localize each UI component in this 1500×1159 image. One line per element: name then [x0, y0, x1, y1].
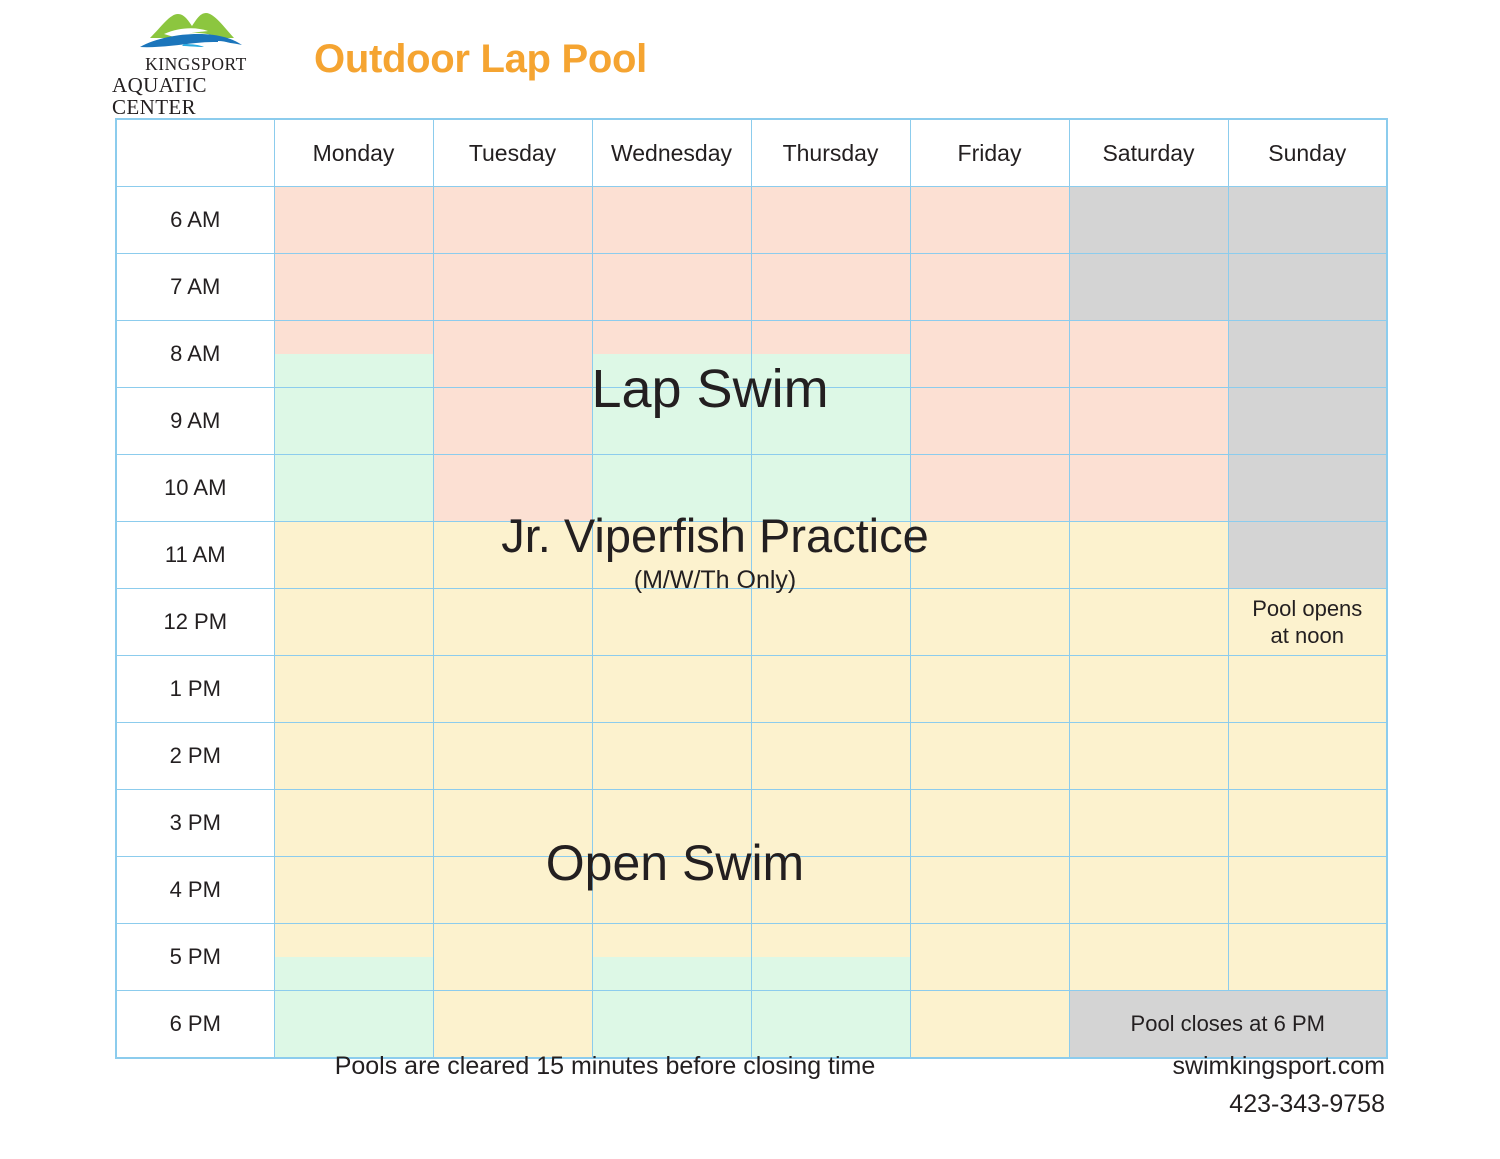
slot-monday-6-am	[274, 187, 433, 254]
slot-half-second	[593, 488, 751, 521]
slot-monday-4-pm	[274, 857, 433, 924]
slot-thursday-6-am	[751, 187, 910, 254]
slot-half-first	[911, 924, 1069, 957]
slot-color-fill	[1070, 790, 1228, 856]
time-label-10-am: 10 AM	[116, 455, 274, 522]
slot-wednesday-11-am	[592, 522, 751, 589]
slot-half-second	[752, 220, 910, 253]
slot-color-fill	[752, 857, 910, 923]
corner-cell	[116, 119, 274, 187]
slot-color-fill	[1070, 187, 1228, 253]
slot-half-second	[1070, 823, 1228, 856]
slot-half-first	[1070, 254, 1228, 287]
slot-color-fill	[1070, 455, 1228, 521]
slot-half-first	[752, 991, 910, 1024]
slot-half-first	[752, 187, 910, 220]
slot-half-second	[752, 689, 910, 722]
schedule-row: 2 PM	[116, 723, 1387, 790]
slot-half-second	[911, 421, 1069, 454]
slot-half-first	[434, 857, 592, 890]
slot-color-fill	[752, 187, 910, 253]
slot-wednesday-5-pm	[592, 924, 751, 991]
slot-tuesday-2-pm	[433, 723, 592, 790]
slot-color-fill	[593, 455, 751, 521]
slot-half-first	[275, 321, 433, 354]
slot-tuesday-11-am	[433, 522, 592, 589]
slot-thursday-2-pm	[751, 723, 910, 790]
slot-color-fill	[434, 522, 592, 588]
slot-color-fill	[752, 254, 910, 320]
slot-color-fill	[911, 790, 1069, 856]
schedule-row: 5 PM	[116, 924, 1387, 991]
slot-tuesday-12-pm	[433, 589, 592, 656]
slot-half-second	[752, 287, 910, 320]
time-label-3-pm: 3 PM	[116, 790, 274, 857]
slot-half-second	[911, 287, 1069, 320]
schedule-row: 6 AM	[116, 187, 1387, 254]
slot-half-first	[752, 321, 910, 354]
slot-monday-5-pm	[274, 924, 433, 991]
slot-half-second	[1070, 220, 1228, 253]
slot-monday-2-pm	[274, 723, 433, 790]
slot-half-first	[275, 388, 433, 421]
slot-half-second	[593, 689, 751, 722]
slot-half-first	[1229, 857, 1387, 890]
slot-half-second	[593, 287, 751, 320]
slot-half-second	[1229, 823, 1387, 856]
slot-half-second	[911, 823, 1069, 856]
slot-color-fill	[434, 857, 592, 923]
slot-thursday-1-pm	[751, 656, 910, 723]
slot-half-second	[593, 622, 751, 655]
slot-color-fill	[1070, 656, 1228, 722]
slot-half-second	[275, 421, 433, 454]
slot-wednesday-6-am	[592, 187, 751, 254]
slot-half-second	[1229, 957, 1387, 990]
slot-half-first	[434, 388, 592, 421]
slot-half-first	[1070, 455, 1228, 488]
slot-saturday-1-pm	[1069, 656, 1228, 723]
slot-friday-4-pm	[910, 857, 1069, 924]
slot-half-second	[752, 823, 910, 856]
slot-half-first	[275, 187, 433, 220]
slot-thursday-10-am	[751, 455, 910, 522]
time-label-11-am: 11 AM	[116, 522, 274, 589]
slot-half-second	[275, 287, 433, 320]
slot-half-first	[1229, 522, 1387, 555]
slot-half-first	[275, 857, 433, 890]
page-header: KINGSPORT AQUATIC CENTER Outdoor Lap Poo…	[0, 0, 1500, 118]
slot-half-first	[593, 656, 751, 689]
slot-color-fill	[752, 924, 910, 990]
slot-half-second	[593, 421, 751, 454]
slot-wednesday-10-am	[592, 455, 751, 522]
slot-half-first	[593, 388, 751, 421]
slot-color-fill	[275, 589, 433, 655]
slot-thursday-3-pm	[751, 790, 910, 857]
slot-saturday-12-pm	[1069, 589, 1228, 656]
slot-friday-12-pm	[910, 589, 1069, 656]
slot-sunday-5-pm	[1228, 924, 1387, 991]
slot-half-second	[593, 957, 751, 990]
slot-half-first	[434, 321, 592, 354]
slot-half-second	[911, 890, 1069, 923]
slot-half-first	[911, 656, 1069, 689]
schedule-table-body: 6 AM7 AM8 AM9 AM10 AM11 AM12 PMPool open…	[116, 187, 1387, 1059]
slot-half-second	[911, 622, 1069, 655]
slot-saturday-3-pm	[1069, 790, 1228, 857]
slot-color-fill	[1229, 723, 1387, 789]
slot-color-fill	[752, 589, 910, 655]
slot-saturday-7-am	[1069, 254, 1228, 321]
slot-color-fill	[275, 924, 433, 990]
slot-half-second	[275, 555, 433, 588]
slot-thursday-8-am	[751, 321, 910, 388]
slot-thursday-9-am	[751, 388, 910, 455]
time-label-4-pm: 4 PM	[116, 857, 274, 924]
schedule-row: 8 AM	[116, 321, 1387, 388]
slot-half-first	[275, 924, 433, 957]
slot-monday-3-pm	[274, 790, 433, 857]
slot-half-first	[1070, 857, 1228, 890]
slot-half-first	[593, 321, 751, 354]
slot-half-first	[593, 589, 751, 622]
slot-half-first	[275, 991, 433, 1024]
slot-half-first	[911, 254, 1069, 287]
slot-friday-1-pm	[910, 656, 1069, 723]
slot-half-first	[911, 790, 1069, 823]
slot-color-fill	[1070, 254, 1228, 320]
schedule-row: 3 PM	[116, 790, 1387, 857]
slot-color-fill	[752, 790, 910, 856]
slot-half-first	[1070, 187, 1228, 220]
slot-color-fill	[593, 857, 751, 923]
slot-half-first	[911, 522, 1069, 555]
slot-color-fill	[593, 522, 751, 588]
slot-tuesday-5-pm	[433, 924, 592, 991]
slot-half-second	[275, 488, 433, 521]
schedule-row: 12 PMPool opensat noon	[116, 589, 1387, 656]
slot-color-fill	[752, 321, 910, 387]
slot-half-first	[593, 522, 751, 555]
slot-monday-8-am	[274, 321, 433, 388]
slot-color-fill	[434, 924, 592, 990]
slot-wednesday-3-pm	[592, 790, 751, 857]
slot-tuesday-8-am	[433, 321, 592, 388]
slot-wednesday-7-am	[592, 254, 751, 321]
slot-color-fill	[434, 589, 592, 655]
slot-tuesday-9-am	[433, 388, 592, 455]
time-label-2-pm: 2 PM	[116, 723, 274, 790]
slot-thursday-4-pm	[751, 857, 910, 924]
slot-monday-7-am	[274, 254, 433, 321]
slot-saturday-9-am	[1069, 388, 1228, 455]
slot-half-first	[593, 991, 751, 1024]
slot-half-second	[752, 421, 910, 454]
slot-half-second	[434, 823, 592, 856]
slot-tuesday-6-am	[433, 187, 592, 254]
slot-half-first	[1229, 790, 1387, 823]
schedule-table: Monday Tuesday Wednesday Thursday Friday…	[115, 118, 1388, 1059]
slot-friday-5-pm	[910, 924, 1069, 991]
slot-half-second	[911, 488, 1069, 521]
slot-half-first	[752, 455, 910, 488]
header-row: Monday Tuesday Wednesday Thursday Friday…	[116, 119, 1387, 187]
slot-wednesday-1-pm	[592, 656, 751, 723]
slot-half-first	[434, 187, 592, 220]
slot-color-fill	[752, 455, 910, 521]
slot-half-second	[752, 555, 910, 588]
slot-half-second	[752, 756, 910, 789]
day-header-saturday: Saturday	[1069, 119, 1228, 187]
slot-half-second	[275, 890, 433, 923]
slot-half-first	[434, 455, 592, 488]
slot-half-first	[593, 857, 751, 890]
slot-half-second	[1070, 622, 1228, 655]
time-label-12-pm: 12 PM	[116, 589, 274, 656]
slot-half-first	[434, 589, 592, 622]
slot-half-second	[275, 823, 433, 856]
slot-color-fill	[593, 723, 751, 789]
slot-color-fill	[275, 790, 433, 856]
slot-monday-11-am	[274, 522, 433, 589]
slot-half-second	[434, 756, 592, 789]
slot-color-fill	[911, 589, 1069, 655]
day-header-friday: Friday	[910, 119, 1069, 187]
slot-half-first	[1070, 522, 1228, 555]
slot-half-first	[752, 723, 910, 756]
slot-thursday-7-am	[751, 254, 910, 321]
slot-saturday-11-am	[1069, 522, 1228, 589]
slot-color-fill	[911, 187, 1069, 253]
slot-half-first	[752, 857, 910, 890]
slot-half-first	[593, 790, 751, 823]
slot-half-first	[911, 321, 1069, 354]
slot-saturday-4-pm	[1069, 857, 1228, 924]
slot-saturday-5-pm	[1069, 924, 1228, 991]
slot-color-fill	[593, 321, 751, 387]
slot-saturday-2-pm	[1069, 723, 1228, 790]
slot-half-first	[752, 254, 910, 287]
slot-color-fill	[275, 388, 433, 454]
slot-half-first	[593, 455, 751, 488]
slot-color-fill	[911, 924, 1069, 990]
slot-color-fill	[911, 656, 1069, 722]
slot-half-first	[752, 656, 910, 689]
slot-color-fill	[434, 790, 592, 856]
slot-half-second	[434, 354, 592, 387]
slot-half-first	[275, 254, 433, 287]
slot-note: Pool opensat noon	[1229, 589, 1387, 655]
slot-color-fill	[911, 522, 1069, 588]
slot-monday-10-am	[274, 455, 433, 522]
slot-color-fill	[275, 254, 433, 320]
slot-color-fill	[434, 455, 592, 521]
slot-half-first	[1229, 656, 1387, 689]
slot-half-second	[1070, 555, 1228, 588]
slot-monday-12-pm	[274, 589, 433, 656]
slot-friday-11-am	[910, 522, 1069, 589]
slot-half-first	[752, 924, 910, 957]
slot-half-second	[752, 488, 910, 521]
slot-half-first	[1070, 924, 1228, 957]
slot-color-fill	[275, 455, 433, 521]
slot-half-second	[911, 220, 1069, 253]
slot-friday-2-pm	[910, 723, 1069, 790]
slot-half-second	[434, 622, 592, 655]
slot-color-fill	[434, 388, 592, 454]
slot-color-fill	[1229, 790, 1387, 856]
slot-half-first	[911, 991, 1069, 1024]
slot-saturday-6-am	[1069, 187, 1228, 254]
slot-half-second	[1229, 756, 1387, 789]
slot-half-second	[593, 756, 751, 789]
time-label-9-am: 9 AM	[116, 388, 274, 455]
slot-half-second	[593, 823, 751, 856]
slot-half-first	[911, 589, 1069, 622]
slot-half-second	[434, 421, 592, 454]
schedule-row: 9 AM	[116, 388, 1387, 455]
mountain-wave-logo-icon	[134, 8, 259, 54]
slot-saturday-8-am	[1069, 321, 1228, 388]
slot-color-fill	[1229, 254, 1387, 320]
slot-half-second	[275, 354, 433, 387]
slot-half-second	[593, 354, 751, 387]
slot-half-first	[911, 723, 1069, 756]
slot-half-second	[911, 689, 1069, 722]
slot-half-second	[1229, 421, 1387, 454]
logo-text-aquatic-center: AQUATIC CENTER	[112, 74, 280, 118]
slot-color-fill	[911, 254, 1069, 320]
slot-half-second	[1070, 689, 1228, 722]
slot-half-second	[1070, 354, 1228, 387]
slot-color-fill	[911, 321, 1069, 387]
slot-color-fill	[752, 388, 910, 454]
slot-tuesday-4-pm	[433, 857, 592, 924]
slot-sunday-7-am	[1228, 254, 1387, 321]
slot-thursday-5-pm	[751, 924, 910, 991]
footer-website[interactable]: swimkingsport.com	[1055, 1048, 1385, 1086]
slot-friday-10-am	[910, 455, 1069, 522]
slot-half-second	[434, 890, 592, 923]
slot-color-fill	[593, 187, 751, 253]
slot-half-second	[1070, 287, 1228, 320]
slot-half-first	[1070, 723, 1228, 756]
slot-half-first	[434, 254, 592, 287]
slot-sunday-11-am	[1228, 522, 1387, 589]
slot-sunday-12-pm: Pool opensat noon	[1228, 589, 1387, 656]
slot-thursday-12-pm	[751, 589, 910, 656]
slot-half-second	[1070, 957, 1228, 990]
slot-half-first	[275, 723, 433, 756]
slot-saturday-10-am	[1069, 455, 1228, 522]
slot-color-fill	[275, 857, 433, 923]
slot-half-second	[593, 555, 751, 588]
slot-half-second	[1070, 488, 1228, 521]
slot-monday-9-am	[274, 388, 433, 455]
slot-half-first	[752, 589, 910, 622]
day-header-tuesday: Tuesday	[433, 119, 592, 187]
slot-sunday-8-am	[1228, 321, 1387, 388]
schedule-row: 10 AM	[116, 455, 1387, 522]
slot-color-fill	[1229, 388, 1387, 454]
schedule-grid-wrapper: Monday Tuesday Wednesday Thursday Friday…	[115, 118, 1385, 1059]
slot-tuesday-1-pm	[433, 656, 592, 723]
slot-color-fill	[434, 187, 592, 253]
slot-color-fill	[593, 388, 751, 454]
slot-half-first	[1229, 254, 1387, 287]
slot-color-fill	[1229, 857, 1387, 923]
footer-clearing-note: Pools are cleared 15 minutes before clos…	[115, 1048, 1055, 1081]
footer-phone[interactable]: 423-343-9758	[1055, 1086, 1385, 1124]
slot-half-second	[593, 890, 751, 923]
slot-color-fill	[434, 254, 592, 320]
schedule-row: 11 AM	[116, 522, 1387, 589]
slot-color-fill	[1229, 924, 1387, 990]
slot-color-fill	[275, 321, 433, 387]
slot-half-second	[275, 756, 433, 789]
slot-half-second	[275, 622, 433, 655]
slot-half-second	[1229, 555, 1387, 588]
slot-half-second	[434, 287, 592, 320]
slot-half-first	[275, 522, 433, 555]
slot-half-first	[911, 455, 1069, 488]
schedule-row: 4 PM	[116, 857, 1387, 924]
slot-half-first	[434, 656, 592, 689]
slot-wednesday-9-am	[592, 388, 751, 455]
slot-color-fill	[275, 656, 433, 722]
slot-color-fill	[911, 723, 1069, 789]
slot-half-first	[434, 723, 592, 756]
slot-half-second	[434, 220, 592, 253]
slot-half-second	[752, 354, 910, 387]
slot-note-line: Pool closes at 6 PM	[1131, 1010, 1325, 1038]
slot-sunday-1-pm	[1228, 656, 1387, 723]
slot-note-line: Pool opens	[1252, 595, 1362, 623]
slot-color-fill	[593, 254, 751, 320]
slot-color-fill	[434, 723, 592, 789]
slot-friday-6-am	[910, 187, 1069, 254]
slot-half-second	[911, 957, 1069, 990]
slot-color-fill	[1229, 187, 1387, 253]
slot-thursday-11-am	[751, 522, 910, 589]
slot-half-second	[752, 957, 910, 990]
slot-friday-3-pm	[910, 790, 1069, 857]
slot-color-fill	[1070, 522, 1228, 588]
slot-sunday-3-pm	[1228, 790, 1387, 857]
slot-color-fill	[1229, 656, 1387, 722]
slot-half-second	[1229, 689, 1387, 722]
slot-half-second	[1070, 890, 1228, 923]
day-header-wednesday: Wednesday	[592, 119, 751, 187]
slot-tuesday-3-pm	[433, 790, 592, 857]
slot-half-second	[911, 354, 1069, 387]
slot-sunday-4-pm	[1228, 857, 1387, 924]
slot-color-fill	[593, 589, 751, 655]
slot-color-fill	[593, 656, 751, 722]
slot-color-fill	[1070, 723, 1228, 789]
slot-half-second	[593, 220, 751, 253]
slot-color-fill	[911, 388, 1069, 454]
slot-color-fill	[1070, 388, 1228, 454]
time-label-1-pm: 1 PM	[116, 656, 274, 723]
slot-half-first	[911, 857, 1069, 890]
slot-color-fill	[1070, 924, 1228, 990]
slot-color-fill	[275, 723, 433, 789]
schedule-table-head: Monday Tuesday Wednesday Thursday Friday…	[116, 119, 1387, 187]
slot-half-first	[434, 991, 592, 1024]
slot-color-fill	[275, 187, 433, 253]
